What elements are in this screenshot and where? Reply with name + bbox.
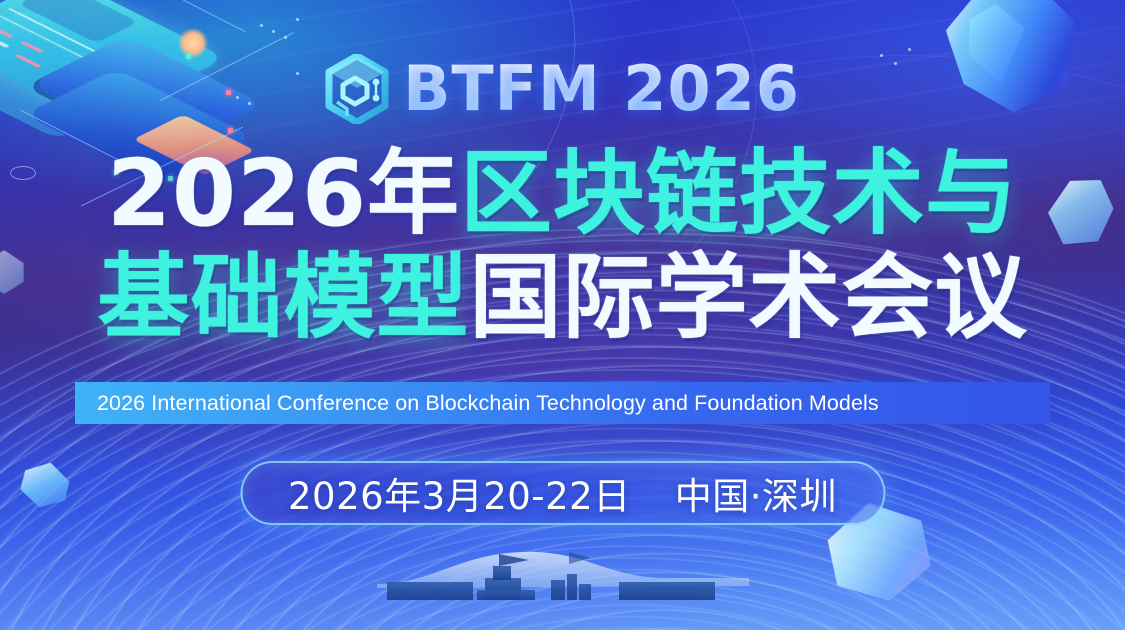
conference-location: 中国·深圳 [675, 466, 837, 520]
title-line-1-cyan: 区块链技术与 [460, 140, 1018, 247]
date-location-pill: 2026年3月20-22日 中国·深圳 [240, 461, 885, 525]
hexagon-blockchain-logo-icon [325, 54, 389, 124]
title-line-1-white: 2026年 [107, 140, 460, 247]
english-subtitle-bar: 2026 International Conference on Blockch… [75, 382, 1050, 424]
title-line-1: 2026年区块链技术与 [0, 148, 1125, 240]
conference-banner: BTFM 2026 2026年区块链技术与 基础模型国际学术会议 2026 In… [0, 0, 1125, 630]
brand-acronym: BTFM 2026 [403, 52, 800, 125]
title-line-2: 基础模型国际学术会议 [0, 252, 1125, 344]
english-subtitle: 2026 International Conference on Blockch… [75, 391, 879, 416]
brand-row: BTFM 2026 [0, 52, 1125, 125]
conference-date: 2026年3月20-22日 [288, 466, 631, 520]
banner-content: BTFM 2026 2026年区块链技术与 基础模型国际学术会议 2026 In… [0, 0, 1125, 630]
title-line-2-white: 国际学术会议 [470, 244, 1028, 351]
title-line-2-cyan: 基础模型 [97, 244, 469, 351]
